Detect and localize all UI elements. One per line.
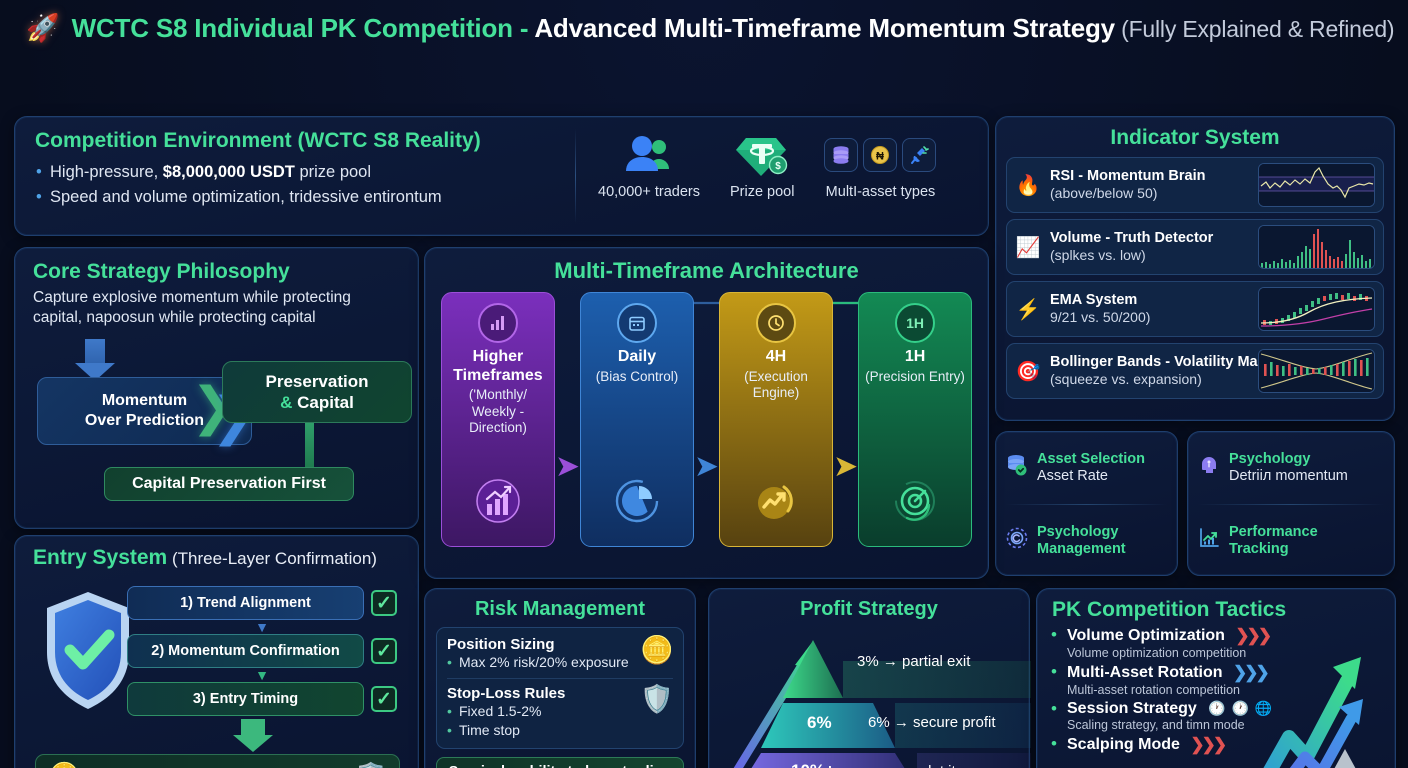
entry-steps: 1) Trend Alignment ✓ ▼ 2) Momentum Confi… bbox=[127, 586, 397, 719]
card-psychology[interactable]: Psychology Detriiл momentum bbox=[1188, 432, 1394, 504]
title-white-part: Advanced Multi-Timeframe Momentum Strate… bbox=[534, 13, 1115, 43]
indicator-row-rsi[interactable]: 🔥 RSI - Momentum Brain (above/below 50) bbox=[1006, 157, 1384, 213]
competition-environment-panel: Competition Environment (WCTC S8 Reality… bbox=[14, 116, 989, 236]
connector-stem bbox=[305, 423, 314, 469]
pk-item-title: Volume Optimization bbox=[1067, 627, 1225, 645]
check-icon: ✓ bbox=[371, 638, 397, 664]
psych-gear-icon bbox=[1005, 526, 1029, 556]
bullet-post: prize pool bbox=[295, 163, 371, 181]
competition-stats: 40,000+ traders $ P bbox=[598, 117, 936, 235]
pk-item-title: Multi-Asset Rotation bbox=[1067, 664, 1223, 682]
mtf-column-higher-timeframes[interactable]: Higher Timeframes ('Monthly/ Weekly - Di… bbox=[441, 292, 555, 547]
risk-footer: Survival = ability to keep trading bbox=[436, 757, 684, 768]
entry-system-subtitle: (Three-Layer Confirmation) bbox=[167, 549, 377, 568]
svg-text:₦: ₦ bbox=[876, 151, 884, 163]
mtf-column-daily[interactable]: Daily (Bias Control) bbox=[580, 292, 694, 547]
svg-text:$: $ bbox=[775, 161, 781, 172]
step-label: 1) Trend Alignment bbox=[127, 586, 364, 620]
chevron-right-icon: ➤ bbox=[833, 452, 858, 482]
database-icon bbox=[824, 138, 858, 172]
1h-badge: 1H bbox=[895, 303, 935, 343]
page-header: 🚀 WCTC S8 Individual PK Competition - Ad… bbox=[0, 0, 1408, 54]
ema-candles-chart bbox=[1258, 287, 1375, 331]
mtf-title-line2: Timeframes bbox=[453, 367, 543, 386]
bullet-pre: High-pressure, bbox=[50, 163, 163, 181]
plug-icon bbox=[902, 138, 936, 172]
step-label: 2) Momentum Confirmation bbox=[127, 634, 364, 668]
preservation-box: Preservation& Capital bbox=[222, 361, 412, 423]
card-sub: Asset Rate bbox=[1037, 468, 1145, 485]
chevron-right-icon: ➤ bbox=[555, 452, 580, 482]
entry-step-1[interactable]: 1) Trend Alignment ✓ bbox=[127, 586, 397, 620]
entry-step-3[interactable]: 3) Entry Timing ✓ bbox=[127, 682, 397, 716]
card-title: Psychology bbox=[1229, 451, 1348, 468]
bar-chart-icon bbox=[478, 303, 518, 343]
coin-icon: ₦ bbox=[863, 138, 897, 172]
risk-item: Fixed 1.5-2% bbox=[447, 702, 673, 721]
entry-step-2[interactable]: 2) Momentum Confirmation ✓ bbox=[127, 634, 397, 668]
risk-card: 🪙 Position Sizing Max 2% risk/20% exposu… bbox=[436, 627, 684, 749]
indicator-system-title: Indicator System bbox=[996, 117, 1394, 157]
check-icon: ✓ bbox=[371, 590, 397, 616]
stat-label: Prize pool bbox=[730, 184, 794, 200]
card-title: Performance bbox=[1229, 524, 1318, 541]
indicator-title: EMA System bbox=[1050, 292, 1249, 309]
card-psychology-management[interactable]: Psychology Management bbox=[996, 505, 1177, 577]
chevron-right-icon: ➤ bbox=[694, 452, 719, 482]
chart-up-icon: 📈 bbox=[1015, 235, 1041, 260]
title-green-part: WCTC S8 Individual PK Competition bbox=[72, 13, 513, 43]
down-arrow-stem bbox=[85, 339, 105, 365]
indicator-row-ema[interactable]: ⚡ EMA System 9/21 vs. 50/200) bbox=[1006, 281, 1384, 337]
mtf-sub: (Bias Control) bbox=[596, 369, 679, 385]
preservation-amp: & bbox=[280, 393, 292, 412]
card-sub: Tracking bbox=[1229, 541, 1318, 558]
indicator-row-volume[interactable]: 📈 Volume - Truth Detector (splkes vs. lo… bbox=[1006, 219, 1384, 275]
entry-footer: 🪙 Survival = ability to keep trading 🛡️ bbox=[35, 754, 400, 768]
indicator-title: Volume - Truth Detector bbox=[1050, 230, 1249, 247]
core-strategy-diagram: MomentumOver Prediction ❯ ❯ Preservation… bbox=[15, 333, 418, 508]
momentum-line1: Momentum bbox=[102, 392, 187, 409]
list-item: High-pressure, $8,000,000 USDT prize poo… bbox=[35, 160, 575, 185]
card-asset-selection[interactable]: Asset Selection Asset Rate bbox=[996, 432, 1177, 504]
capital-preservation-box: Capital Preservation First bbox=[104, 467, 354, 501]
database-check-icon bbox=[1005, 453, 1029, 483]
risk-heading: Position Sizing bbox=[447, 636, 673, 653]
profit-tier-inner: 10%+ bbox=[791, 761, 835, 768]
momentum-line2: Over Prediction bbox=[85, 412, 204, 429]
card-title: Asset Selection bbox=[1037, 451, 1145, 468]
bollinger-chart bbox=[1258, 349, 1375, 393]
mtf-sub: (Execution Engine) bbox=[726, 369, 826, 402]
indicator-sub: (above/below 50) bbox=[1050, 185, 1249, 202]
core-strategy-title: Core Strategy Philosophy bbox=[15, 248, 418, 288]
lightning-icon: ⚡ bbox=[1015, 297, 1041, 322]
small-cards-left-panel: Asset Selection Asset Rate Psychology Ma… bbox=[995, 431, 1178, 576]
shield-check-big-icon bbox=[39, 588, 137, 713]
mtf-column-1h[interactable]: 1H 1H (Precision Entry) bbox=[858, 292, 972, 547]
bullet-bold: $8,000,000 USDT bbox=[163, 163, 295, 181]
profit-title: Profit Strategy bbox=[709, 589, 1029, 625]
indicator-row-bollinger[interactable]: 🎯 Bollinger Bands - Volatility Map (sque… bbox=[1006, 343, 1384, 399]
tether-diamond-icon: $ bbox=[730, 131, 794, 179]
target-ring-icon bbox=[891, 477, 939, 532]
card-title: Psychology bbox=[1037, 524, 1126, 541]
risk-title: Risk Management bbox=[425, 589, 695, 627]
stat-prize-pool: $ Prize pool bbox=[730, 131, 794, 200]
brain-head-icon bbox=[1197, 453, 1221, 483]
profit-tier-label: 3% → partial exit bbox=[857, 653, 970, 670]
calendar-icon bbox=[617, 303, 657, 343]
mtf-title-line1: Daily bbox=[618, 348, 656, 367]
profit-pyramid: 3% → partial exit 6% 6% → secure profit … bbox=[709, 625, 1029, 768]
indicator-sub: 9/21 vs. 50/200) bbox=[1050, 309, 1249, 326]
multi-timeframe-panel: Multi-Timeframe Architecture Higher Time… bbox=[424, 247, 989, 579]
risk-management-panel: Risk Management 🪙 Position Sizing Max 2%… bbox=[424, 588, 696, 768]
list-item: Speed and volume optimization, tridessiv… bbox=[35, 185, 575, 210]
entry-system-panel: Entry System (Three-Layer Confirmation) … bbox=[14, 535, 419, 768]
small-cards-right-panel: Psychology Detriiл momentum Performance … bbox=[1187, 431, 1395, 576]
page-title: WCTC S8 Individual PK Competition - Adva… bbox=[72, 13, 1395, 44]
card-sub: Management bbox=[1037, 541, 1126, 558]
title-dash: - bbox=[513, 13, 535, 43]
shield-orange-icon: 🛡️ bbox=[355, 761, 387, 768]
rsi-line-chart bbox=[1258, 163, 1375, 207]
multi-asset-badges: ₦ bbox=[824, 138, 936, 172]
competition-bullets: High-pressure, $8,000,000 USDT prize poo… bbox=[35, 160, 575, 210]
indicator-system-panel: Indicator System 🔥 RSI - Momentum Brain … bbox=[995, 116, 1395, 421]
profit-tier-label: 6% → secure profit bbox=[868, 714, 996, 731]
risk-heading: Stop-Loss Rules bbox=[447, 685, 673, 702]
coin-dollar-icon: 🪙 bbox=[48, 761, 80, 768]
infographic-page: 🚀 WCTC S8 Individual PK Competition - Ad… bbox=[0, 0, 1408, 768]
mtf-title-line1: Higher bbox=[473, 348, 524, 367]
risk-item: Max 2% risk/20% exposure bbox=[447, 653, 673, 672]
profit-tier-label: → let it run bbox=[909, 763, 982, 768]
stat-label: 40,000+ traders bbox=[598, 184, 700, 200]
big-down-arrow-icon bbox=[233, 719, 273, 752]
perf-chart-icon bbox=[1197, 526, 1221, 556]
clock-icon bbox=[756, 303, 796, 343]
core-strategy-description: Capture explosive momentum while protect… bbox=[15, 288, 418, 329]
indicator-sub: (splkes vs. low) bbox=[1050, 247, 1249, 264]
check-icon: ✓ bbox=[371, 686, 397, 712]
title-dim-part: (Fully Explained & Refined) bbox=[1115, 16, 1394, 42]
profit-tier-inner: 6% bbox=[807, 713, 832, 733]
step-arrow-icon: ▼ bbox=[127, 622, 397, 633]
fire-icon: 🔥 bbox=[1015, 173, 1041, 198]
bullet-pre: Speed and volume optimization, tridessiv… bbox=[50, 188, 442, 206]
mtf-columns: Higher Timeframes ('Monthly/ Weekly - Di… bbox=[425, 292, 988, 547]
pk-title: PK Competition Tactics bbox=[1037, 589, 1395, 626]
growth-chart-icon bbox=[474, 477, 522, 532]
mtf-title-line1: 4H bbox=[766, 348, 786, 367]
divider bbox=[575, 129, 576, 223]
step-arrow-icon: ▼ bbox=[127, 670, 397, 681]
mtf-title-line1: 1H bbox=[905, 348, 925, 367]
indicator-title: Bollinger Bands - Volatility Map bbox=[1050, 354, 1249, 371]
card-sub: Detriiл momentum bbox=[1229, 468, 1348, 485]
stat-multi-asset: ₦ bbox=[824, 131, 936, 200]
mtf-title: Multi-Timeframe Architecture bbox=[425, 248, 988, 292]
mtf-sub: ('Monthly/ Weekly - Direction) bbox=[448, 387, 548, 436]
entry-system-title: Entry System bbox=[33, 546, 167, 569]
risk-item: Time stop bbox=[447, 721, 673, 740]
profit-strategy-panel: Profit Strategy 3% → partial exit 6 bbox=[708, 588, 1030, 768]
indicator-title: RSI - Momentum Brain bbox=[1050, 168, 1249, 185]
preservation-line1: Preservation bbox=[266, 372, 369, 391]
entry-system-header: Entry System (Three-Layer Confirmation) bbox=[15, 536, 418, 576]
indicator-sub: (squeeze vs. expansion) bbox=[1050, 371, 1249, 388]
rocket-icon: 🚀 bbox=[26, 15, 60, 42]
card-performance-tracking[interactable]: Performance Tracking bbox=[1188, 505, 1394, 577]
stat-label: MultI-asset types bbox=[824, 184, 936, 200]
stat-traders: 40,000+ traders bbox=[598, 131, 700, 200]
chevrons-red-icon: ❯❯❯ bbox=[1190, 735, 1224, 755]
volume-bars-chart bbox=[1258, 225, 1375, 269]
pk-item-title: Scalping Mode bbox=[1067, 736, 1180, 754]
step-label: 3) Entry Timing bbox=[127, 682, 364, 716]
target-icon: 🎯 bbox=[1015, 359, 1041, 384]
mtf-sub: (Precision Entry) bbox=[865, 369, 965, 385]
mtf-column-4h[interactable]: 4H (Execution Engine) bbox=[719, 292, 833, 547]
pk-tactics-panel: PK Competition Tactics Volume Optimizati… bbox=[1036, 588, 1396, 768]
growth-arrows-decoration bbox=[1259, 641, 1389, 768]
divider bbox=[447, 678, 673, 679]
pie-chart-icon bbox=[613, 477, 661, 532]
core-strategy-panel: Core Strategy Philosophy Capture explosi… bbox=[14, 247, 419, 529]
preservation-line2: Capital bbox=[297, 393, 354, 412]
people-icon bbox=[598, 131, 700, 179]
competition-title: Competition Environment (WCTC S8 Reality… bbox=[35, 129, 575, 153]
trend-arrow-icon bbox=[752, 477, 800, 532]
pk-item-title: Session Strategy bbox=[1067, 700, 1197, 718]
